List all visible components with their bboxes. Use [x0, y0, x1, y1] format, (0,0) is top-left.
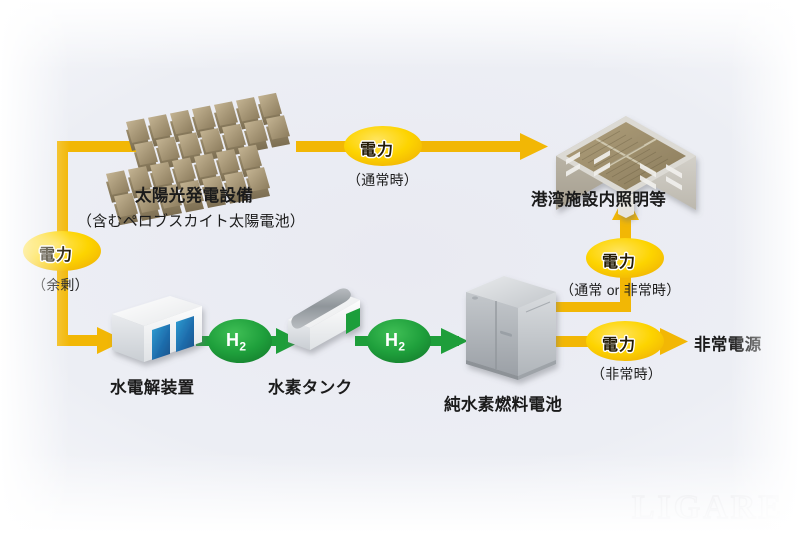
- fuel-cell-cabinet-icon: [466, 276, 556, 380]
- background-fade-right: [730, 0, 800, 533]
- node-label-hydrogen-tank: 水素タンク: [268, 374, 353, 398]
- node-label-solar: 太陽光発電設備: [135, 182, 253, 206]
- background-fade-bottom: [0, 453, 800, 533]
- hydrogen-tank-icon: [288, 288, 360, 350]
- diagram-canvas: 電力 （通常時） 電力 （余剰） 電力 （通常 or 非常時） 電力 （非常時）…: [0, 0, 800, 533]
- badge-label-power-emergency: 電力: [602, 331, 636, 355]
- flow-solar-to-facility: [296, 133, 548, 160]
- node-sublabel-solar: （含むペロブスカイト太陽電池）: [77, 210, 305, 231]
- badge-note-power-normal: （通常時）: [347, 170, 418, 190]
- node-label-port-facility: 港湾施設内照明等: [531, 186, 666, 210]
- solar-panel-array-icon: [106, 90, 290, 228]
- background-fade-top: [0, 0, 800, 70]
- badge-label-power-normal-or-emergency: 電力: [602, 248, 636, 272]
- node-label-fuel-cell: 純水素燃料電池: [444, 391, 562, 415]
- badge-label-hydrogen-2: H2: [385, 330, 405, 354]
- badge-note-power-emergency: （非常時）: [591, 364, 662, 384]
- electrolyzer-unit-icon: [112, 296, 202, 362]
- background-fade-left: [0, 0, 70, 533]
- node-label-electrolyzer: 水電解装置: [110, 374, 195, 398]
- badge-label-power-normal: 電力: [360, 136, 394, 160]
- badge-note-power-normal-or-emergency: （通常 or 非常時）: [560, 280, 680, 300]
- badge-label-hydrogen-1: H2: [226, 330, 246, 354]
